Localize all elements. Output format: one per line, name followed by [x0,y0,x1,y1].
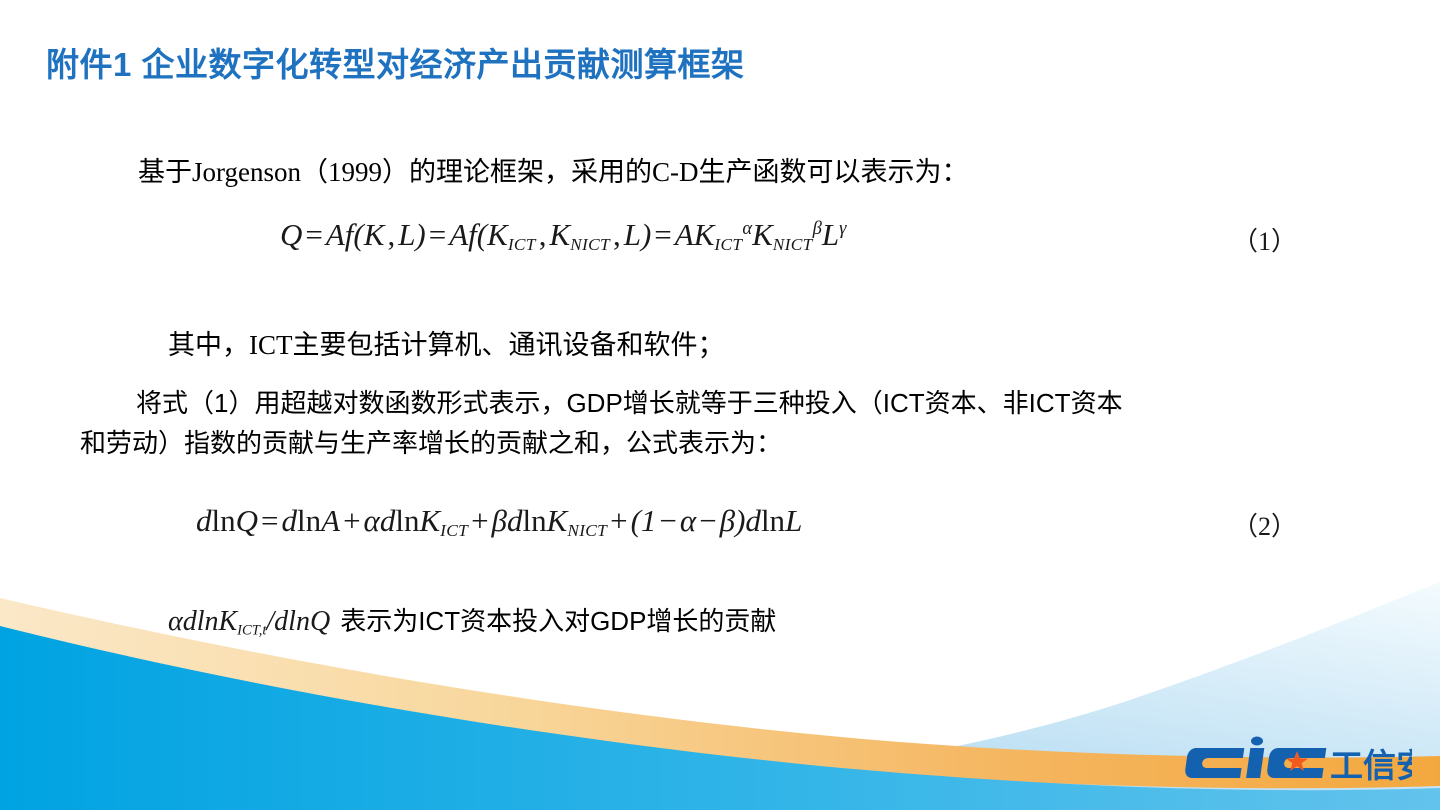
equation-2-number: （2） [1232,506,1297,543]
paragraph-contribution: αdlnKICT,t/dlnQ 表示为ICT资本投入对GDP增长的贡献 [168,600,776,643]
page-title: 附件1 企业数字化转型对经济产出贡献测算框架 [46,38,745,86]
logo: 工信安全 [1184,736,1412,788]
equation-1-number: （1） [1232,221,1297,258]
paragraph-translog-line2: 和劳动）指数的贡献与生产率增长的贡献之和，公式表示为： [80,423,1366,463]
equation-1: Q=Af(K,L)=Af(KICT,KNICT,L)=AKICTαKNICTβL… [280,217,846,255]
logo-letter-i [1246,748,1264,778]
paragraph-contribution-text: 表示为ICT资本投入对GDP增长的贡献 [340,601,776,641]
cic-gongxin-anquan-logo: 工信安全 [1184,736,1412,788]
inline-formula-tail: /dlnQ [266,606,330,637]
inline-formula-head: αdlnK [168,606,237,637]
title-block: 附件1 企业数字化转型对经济产出贡献测算框架 [46,38,745,86]
paragraph-intro: 基于Jorgenson（1999）的理论框架，采用的C-D生产函数可以表示为： [138,152,969,194]
inline-formula-alpha-dlnk: αdlnKICT,t/dlnQ [168,600,330,643]
paragraph-ict-definition: 其中，ICT主要包括计算机、通讯设备和软件； [168,325,725,367]
logo-letter-c1 [1184,748,1244,778]
logo-wordmark: 工信安全 [1330,747,1412,784]
logo-letter-i-dot [1251,737,1263,746]
inline-formula-subscript: ICT,t [237,623,266,639]
slide: 附件1 企业数字化转型对经济产出贡献测算框架 基于Jorgenson（1999）… [0,0,1440,810]
equation-2: dlnQ=dlnA+αdlnKICT+βdlnKNICT+(1−α−β)dlnL [196,503,802,541]
paragraph-translog: 将式（1）用超越对数函数形式表示，GDP增长就等于三种投入（ICT资本、非ICT… [136,383,1366,464]
paragraph-translog-line1: 将式（1）用超越对数函数形式表示，GDP增长就等于三种投入（ICT资本、非ICT… [136,388,1123,418]
